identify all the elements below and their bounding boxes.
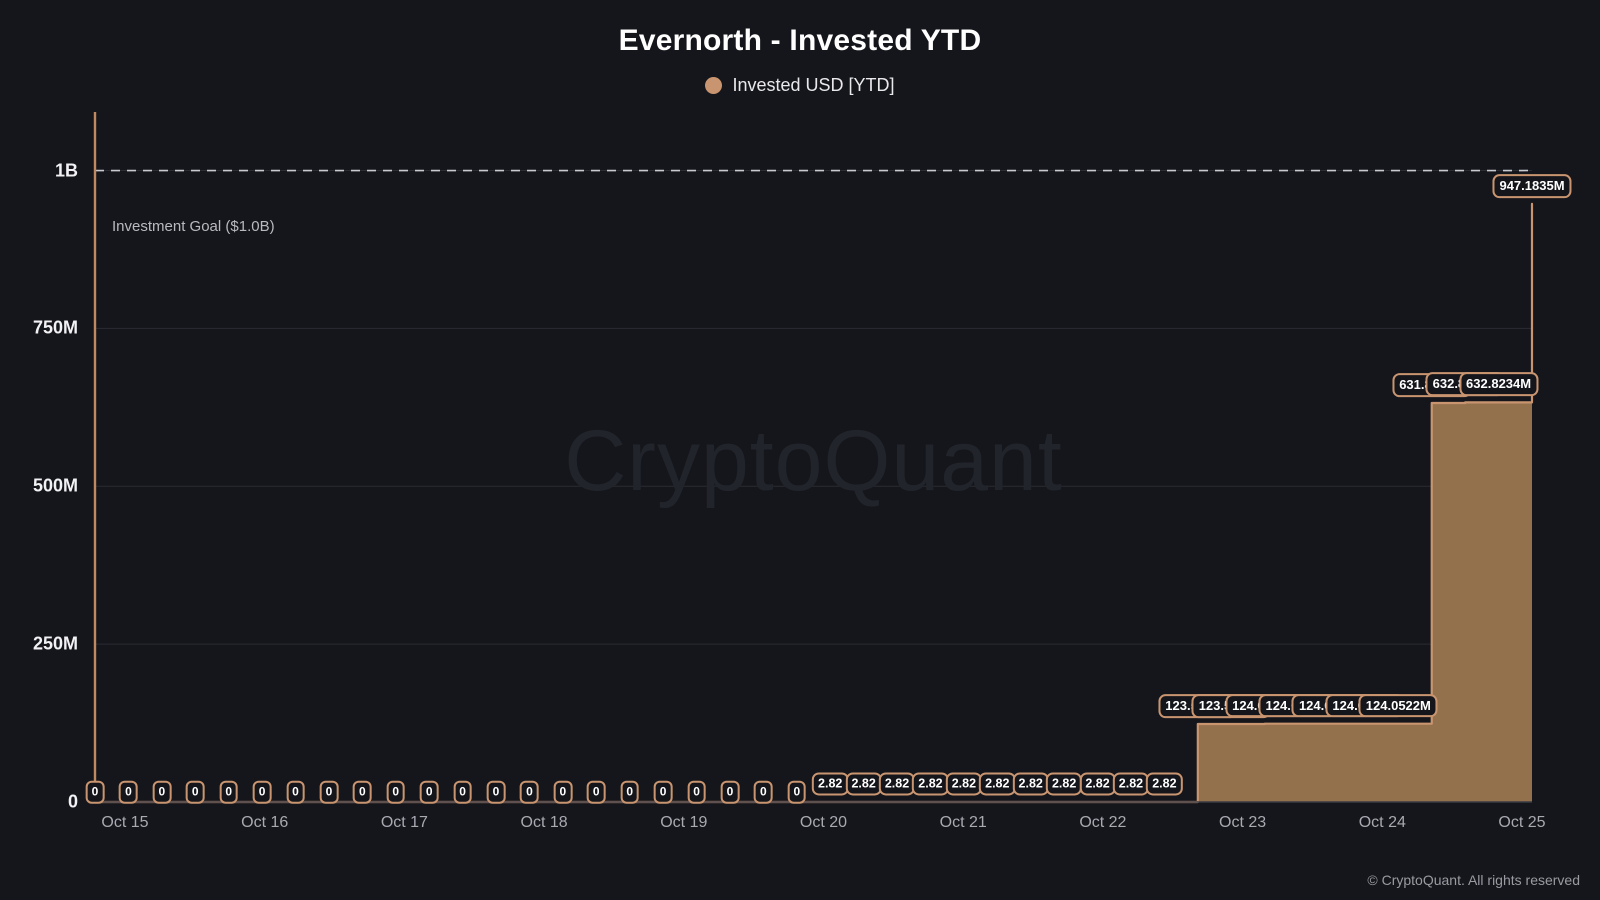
data-point-label: 0	[86, 781, 105, 804]
data-point-label: 2.82	[1046, 772, 1082, 795]
x-axis-tick-label: Oct 24	[1359, 814, 1406, 832]
data-point-label: 0	[687, 781, 706, 804]
data-point-label: 2.82	[1146, 772, 1182, 795]
data-point-label: 0	[754, 781, 773, 804]
x-axis-tick-label: Oct 23	[1219, 814, 1266, 832]
data-point-label: 2.82	[812, 772, 848, 795]
x-axis-tick-label: Oct 20	[800, 814, 847, 832]
data-point-label: 2.82	[912, 772, 948, 795]
investment-goal-label: Investment Goal ($1.0B)	[112, 218, 275, 235]
data-point-label: 2.82	[879, 772, 915, 795]
data-point-label: 632.8234M	[1459, 373, 1538, 397]
data-point-label: 2.82	[1079, 772, 1115, 795]
data-point-label: 0	[353, 781, 372, 804]
legend-series-marker-icon	[705, 77, 722, 94]
y-axis-tick-label: 0	[68, 792, 78, 813]
data-point-label: 0	[286, 781, 305, 804]
data-point-label: 0	[453, 781, 472, 804]
data-point-label: 0	[253, 781, 272, 804]
data-point-label: 0	[152, 781, 171, 804]
chart-root: Evernorth - Invested YTD Invested USD [Y…	[0, 0, 1600, 900]
data-point-label: 2.82	[979, 772, 1015, 795]
x-axis-tick-label: Oct 15	[101, 814, 148, 832]
data-point-label: 2.82	[946, 772, 982, 795]
data-point-label: 0	[219, 781, 238, 804]
y-axis-tick-label: 250M	[33, 634, 78, 655]
data-point-label: 0	[520, 781, 539, 804]
chart-title: Evernorth - Invested YTD	[0, 24, 1600, 58]
x-axis-tick-label: Oct 25	[1498, 814, 1545, 832]
data-point-label: 0	[320, 781, 339, 804]
y-axis: 0250M500M750M1B	[0, 120, 88, 802]
y-axis-tick-label: 1B	[55, 160, 78, 181]
data-point-label: 0	[119, 781, 138, 804]
data-point-label: 0	[386, 781, 405, 804]
y-axis-tick-label: 750M	[33, 318, 78, 339]
data-point-label: 0	[554, 781, 573, 804]
data-point-label: 124.0522M	[1359, 694, 1438, 718]
data-point-label: 0	[420, 781, 439, 804]
x-axis-tick-label: Oct 22	[1079, 814, 1126, 832]
legend-series-label: Invested USD [YTD]	[732, 75, 894, 96]
data-point-label: 2.82	[845, 772, 881, 795]
data-point-label: 0	[787, 781, 806, 804]
data-point-label: 0	[620, 781, 639, 804]
x-axis: Oct 15Oct 16Oct 17Oct 18Oct 19Oct 20Oct …	[95, 806, 1532, 846]
x-axis-tick-label: Oct 21	[940, 814, 987, 832]
chart-legend: Invested USD [YTD]	[0, 75, 1600, 96]
data-point-label: 0	[654, 781, 673, 804]
copyright-credit: © CryptoQuant. All rights reserved	[1367, 872, 1580, 888]
x-axis-tick-label: Oct 19	[660, 814, 707, 832]
data-point-label: 0	[587, 781, 606, 804]
x-axis-tick-label: Oct 17	[381, 814, 428, 832]
data-point-label: 2.82	[1113, 772, 1149, 795]
data-point-label: 0	[487, 781, 506, 804]
data-point-label: 0	[721, 781, 740, 804]
data-point-label: 2.82	[1013, 772, 1049, 795]
x-axis-tick-label: Oct 16	[241, 814, 288, 832]
data-point-label: 0	[186, 781, 205, 804]
x-axis-tick-label: Oct 18	[521, 814, 568, 832]
y-axis-tick-label: 500M	[33, 476, 78, 497]
data-point-label: 947.1835M	[1492, 174, 1571, 198]
